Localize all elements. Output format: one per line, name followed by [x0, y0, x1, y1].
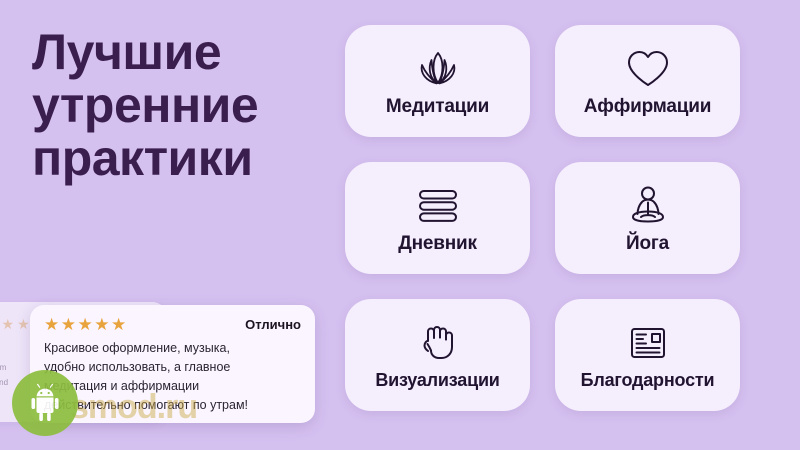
review-text-line-1: Красивое оформление, музыка,: [44, 339, 301, 358]
feature-card-label: Визуализации: [375, 371, 499, 389]
feature-card-visualization[interactable]: Визуализации: [345, 299, 530, 411]
headline-line-3: практики: [32, 132, 332, 185]
feature-card-affirmations[interactable]: Аффирмации: [555, 25, 740, 137]
card-row-1: Медитации Аффирмации: [345, 25, 741, 137]
review-back-line-3: sleb: [0, 390, 8, 405]
review-back-line-2: elf and: [0, 375, 8, 390]
review-back-line-1: app m: [0, 360, 8, 375]
feature-card-yoga[interactable]: Йога: [555, 162, 740, 274]
yoga-lotus-pose-icon: [624, 180, 672, 232]
feature-card-label: Йога: [626, 234, 669, 253]
review-back-stars: ★★★: [0, 316, 33, 333]
review-text-line-4: действительно помогают по утрам!: [44, 396, 301, 415]
feature-card-journal[interactable]: Дневник: [345, 162, 530, 274]
review-header: ★★★★★ Отлично: [44, 316, 301, 333]
lotus-flower-icon: [411, 43, 465, 95]
postcard-icon: [624, 317, 672, 369]
journal-lines-icon: [412, 180, 464, 232]
headline-line-1: Лучшие: [32, 26, 332, 79]
review-verdict-label: Отлично: [245, 317, 301, 332]
android-robot-icon: [12, 370, 78, 436]
card-row-3: Визуализации Благодарности: [345, 299, 741, 411]
star-rating: ★★★★★: [44, 316, 128, 333]
feature-card-label: Благодарности: [581, 371, 715, 389]
review-text-line-2: удобно использовать, а главное: [44, 358, 301, 377]
card-row-2: Дневник Йога: [345, 162, 741, 274]
page-title: Лучшие утренние практики: [32, 26, 332, 185]
review-text-line-3: медитация и аффирмации: [44, 377, 301, 396]
headline-line-2: утренние: [32, 79, 332, 132]
feature-card-gratitude[interactable]: Благодарности: [555, 299, 740, 411]
review-back-text: app m elf and sleb: [0, 360, 8, 405]
feature-card-label: Аффирмации: [584, 97, 711, 116]
feature-card-label: Медитации: [386, 97, 489, 116]
review-text: Красивое оформление, музыка, удобно испо…: [44, 339, 301, 415]
heart-icon: [624, 43, 672, 95]
feature-card-meditation[interactable]: Медитации: [345, 25, 530, 137]
feature-card-grid: Медитации Аффирмации: [345, 25, 741, 436]
hands-icon: [415, 317, 461, 369]
poster-canvas: Лучшие утренние практики Медитации: [0, 0, 800, 450]
feature-card-label: Дневник: [398, 234, 477, 253]
